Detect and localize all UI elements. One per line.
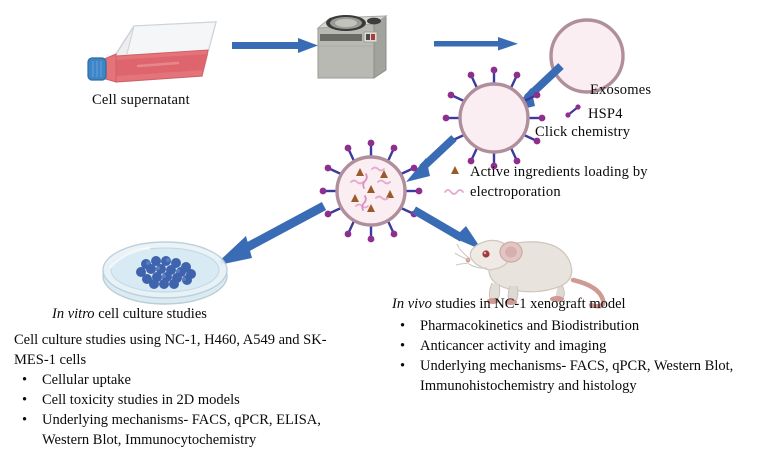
exosome-loaded-icon	[318, 138, 424, 244]
bullet-text: Cell toxicity studies in 2D models	[42, 390, 386, 410]
in-vitro-caption-rest: cell culture studies	[95, 306, 207, 322]
centrifuge-icon	[312, 6, 392, 82]
in-vitro-intro-line1: Cell culture studies using NC-1, H460, A…	[14, 330, 386, 350]
bullet-text: Underlying mechanisms- FACS, qPCR, ELISA…	[42, 410, 386, 450]
in-vitro-bullet-1: • Cellular uptake	[14, 370, 386, 390]
click-chemistry-label: Click chemistry	[535, 124, 630, 141]
bullet-text: Underlying mechanisms- FACS, qPCR, Weste…	[420, 356, 768, 396]
in-vitro-caption-italic: In vitro	[52, 306, 95, 322]
bullet-marker: •	[14, 370, 42, 390]
arrow-centrifuge-to-exosome	[434, 34, 520, 54]
petri-dish-icon	[98, 238, 232, 308]
in-vivo-bullet-1: • Pharmacokinetics and Biodistribution	[392, 316, 768, 336]
bullet-text-line2: Immunohistochemistry and histology	[420, 376, 768, 396]
in-vitro-bullet-2: • Cell toxicity studies in 2D models	[14, 390, 386, 410]
bullet-text-line2: Western Blot, Immunocytochemistry	[42, 430, 386, 450]
exosomes-label: Exosomes	[590, 82, 651, 99]
bullet-text-line1: Underlying mechanisms- FACS, qPCR, Weste…	[420, 356, 768, 376]
rna-squiggle-icon	[443, 186, 465, 196]
cargo-triangle-icon	[448, 165, 462, 177]
in-vivo-caption-rest: studies in NC-1 xenograft model	[432, 296, 626, 312]
in-vitro-intro-line2: MES-1 cells	[14, 350, 386, 370]
in-vitro-text-block: Cell culture studies using NC-1, H460, A…	[14, 330, 386, 450]
active-ingredients-line1: Active ingredients loading by	[470, 164, 648, 181]
bullet-text: Pharmacokinetics and Biodistribution	[420, 316, 768, 336]
in-vitro-caption: In vitro cell culture studies	[52, 306, 207, 323]
bullet-marker: •	[392, 356, 420, 376]
bullet-marker: •	[14, 390, 42, 410]
in-vivo-caption: In vivo studies in NC-1 xenograft model	[392, 296, 626, 313]
bullet-marker: •	[14, 410, 42, 430]
bullet-marker: •	[392, 316, 420, 336]
bullet-marker: •	[392, 336, 420, 356]
bullet-text-line1: Underlying mechanisms- FACS, qPCR, ELISA…	[42, 410, 386, 430]
in-vivo-bullet-2: • Anticancer activity and imaging	[392, 336, 768, 356]
active-ingredients-line2: electroporation	[470, 184, 561, 201]
bullet-text: Cellular uptake	[42, 370, 386, 390]
in-vivo-text-block: • Pharmacokinetics and Biodistribution •…	[392, 316, 768, 396]
arrow-flask-to-centrifuge	[232, 36, 320, 56]
cell-culture-flask-icon	[82, 16, 222, 98]
in-vivo-caption-italic: In vivo	[392, 296, 432, 312]
in-vivo-bullet-3: • Underlying mechanisms- FACS, qPCR, Wes…	[392, 356, 768, 396]
figure-canvas: Cell supernatant	[0, 0, 779, 457]
bullet-text: Anticancer activity and imaging	[420, 336, 768, 356]
cell-supernatant-label: Cell supernatant	[92, 92, 190, 109]
hsp4-spike-icon	[563, 104, 581, 120]
hsp4-label: HSP4	[588, 106, 623, 123]
in-vitro-bullet-3: • Underlying mechanisms- FACS, qPCR, ELI…	[14, 410, 386, 450]
